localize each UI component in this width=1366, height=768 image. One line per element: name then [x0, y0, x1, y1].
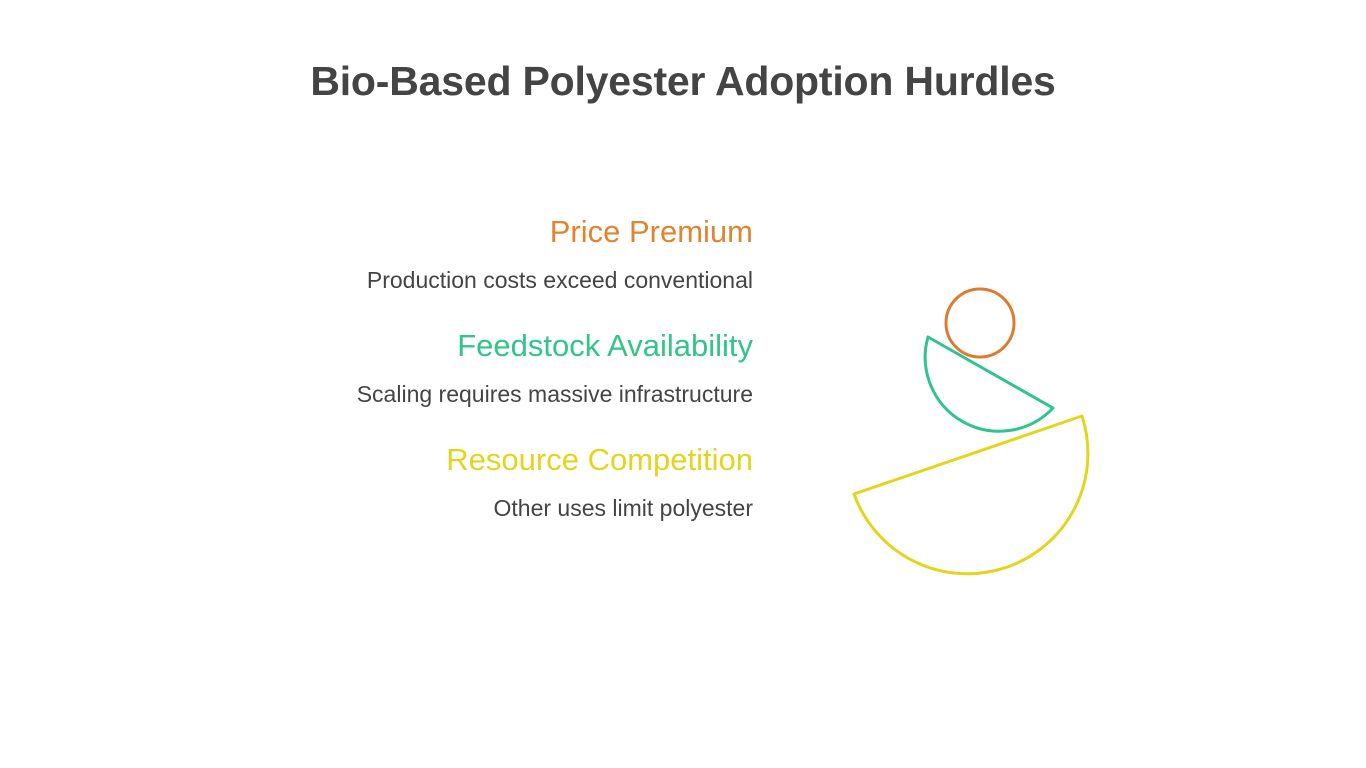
- slide-canvas: Bio-Based Polyester Adoption Hurdles Pri…: [0, 0, 1366, 768]
- hurdle-body-resource-competition: Other uses limit polyester: [353, 490, 753, 526]
- hurdle-body-feedstock-availability: Scaling requires massive infrastructure: [353, 376, 753, 412]
- list-item: Price Premium Production costs exceed co…: [353, 212, 753, 298]
- circle-outline-orange: [946, 289, 1014, 357]
- hurdles-list: Price Premium Production costs exceed co…: [353, 212, 753, 526]
- semicircle-small-green: [925, 337, 1053, 431]
- list-item: Resource Competition Other uses limit po…: [353, 440, 753, 526]
- abstract-shapes-illustration: [820, 265, 1120, 595]
- spacer: [353, 412, 753, 440]
- page-title: Bio-Based Polyester Adoption Hurdles: [0, 58, 1366, 105]
- spacer: [353, 298, 753, 326]
- hurdle-heading-resource-competition: Resource Competition: [353, 440, 753, 480]
- semicircle-large-yellow: [854, 416, 1088, 574]
- hurdle-body-price-premium: Production costs exceed conventional: [353, 262, 753, 298]
- list-item: Feedstock Availability Scaling requires …: [353, 326, 753, 412]
- hurdle-heading-price-premium: Price Premium: [353, 212, 753, 252]
- hurdle-heading-feedstock-availability: Feedstock Availability: [353, 326, 753, 366]
